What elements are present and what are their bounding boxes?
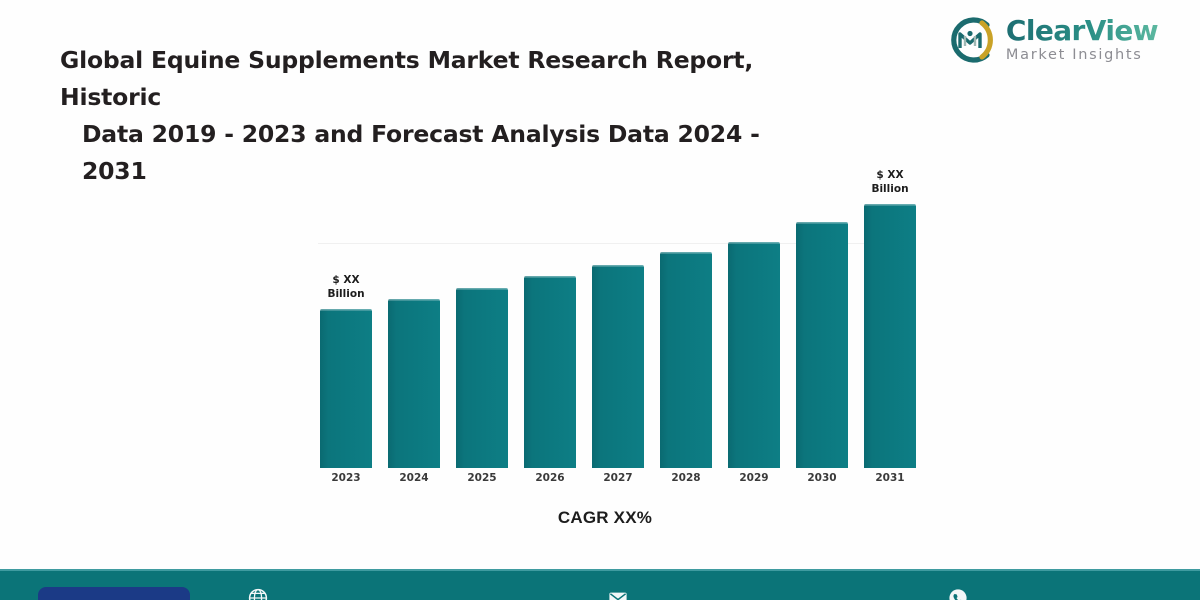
brand-wordmark: ClearView Market Insights: [1006, 17, 1158, 63]
x-axis-label-2023: 2023: [314, 472, 378, 484]
brand-tagline: Market Insights: [1006, 48, 1158, 63]
bar-value-label-2031: $ XXBillion: [852, 168, 928, 196]
bar-rect: [388, 299, 440, 468]
chart-x-axis-labels: 202320242025202620272028202920302031: [300, 472, 910, 492]
bar-rect: [320, 309, 372, 468]
bar-rect: [592, 265, 644, 468]
footer-item-phone[interactable]: [948, 588, 968, 600]
bar-chart: $ XXBillion$ XXBillion 20232024202520262…: [300, 160, 910, 480]
x-axis-label-2029: 2029: [722, 472, 786, 484]
brand-name: ClearView: [1006, 17, 1158, 45]
footer-item-email[interactable]: [608, 588, 628, 600]
chart-plot-area: $ XXBillion$ XXBillion: [300, 160, 910, 468]
envelope-icon: [608, 588, 628, 600]
x-axis-label-2025: 2025: [450, 472, 514, 484]
x-axis-label-2027: 2027: [586, 472, 650, 484]
phone-circle-icon: [948, 588, 968, 600]
footer-cta-button[interactable]: [38, 587, 190, 600]
globe-icon: [248, 588, 268, 600]
x-axis-label-2026: 2026: [518, 472, 582, 484]
bar-rect: [796, 222, 848, 468]
x-axis-label-2028: 2028: [654, 472, 718, 484]
x-axis-label-2031: 2031: [858, 472, 922, 484]
bar-rect: [456, 288, 508, 468]
bar-value-amount: $ XX: [308, 273, 384, 287]
bar-value-unit: Billion: [308, 287, 384, 301]
brand-logo[interactable]: ClearView Market Insights: [942, 12, 1158, 68]
bar-rect: [660, 252, 712, 468]
bar-rect: [864, 204, 916, 468]
bar-value-unit: Billion: [852, 182, 928, 196]
bar-rect: [728, 242, 780, 468]
footer-item-website[interactable]: [248, 588, 268, 600]
chart-bars: $ XXBillion$ XXBillion: [300, 160, 910, 468]
bar-rect: [524, 276, 576, 469]
clearview-circle-monogram-icon: [942, 12, 998, 68]
x-axis-label-2024: 2024: [382, 472, 446, 484]
bar-value-amount: $ XX: [852, 168, 928, 182]
chart-cagr-label: CAGR XX%: [300, 508, 910, 528]
x-axis-label-2030: 2030: [790, 472, 854, 484]
page-title-line-1: Global Equine Supplements Market Researc…: [60, 46, 753, 111]
report-infographic-page: Global Equine Supplements Market Researc…: [0, 0, 1200, 600]
bar-value-label-2023: $ XXBillion: [308, 273, 384, 301]
footer-band: [0, 569, 1200, 600]
